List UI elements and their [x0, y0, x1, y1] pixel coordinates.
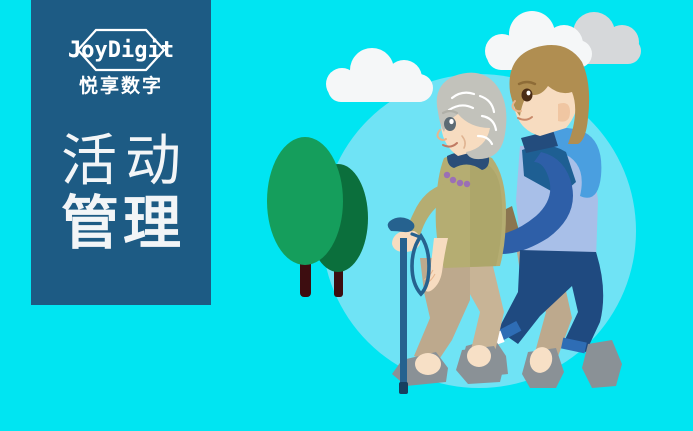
title-panel: JoyDigit JoyDigit 悦享数字 活动 管理 [31, 0, 211, 305]
man-ear [558, 103, 570, 122]
woman-eye [444, 117, 456, 131]
brand-logo: JoyDigit JoyDigit 悦享数字 [31, 26, 211, 98]
hexagon-outline-icon: JoyDigit JoyDigit [47, 26, 195, 74]
logo-mark: JoyDigit JoyDigit [31, 26, 211, 72]
man-eye [522, 89, 533, 102]
page-title-line-1: 活动 [31, 130, 211, 192]
page-title: 活动 管理 [31, 130, 211, 256]
poster-canvas: JoyDigit JoyDigit 悦享数字 活动 管理 [0, 0, 693, 431]
logo-chinese-name: 悦享数字 [31, 76, 211, 98]
logo-wordmark-top: JoyDigit [68, 38, 174, 63]
page-title-line-2: 管理 [31, 192, 211, 256]
